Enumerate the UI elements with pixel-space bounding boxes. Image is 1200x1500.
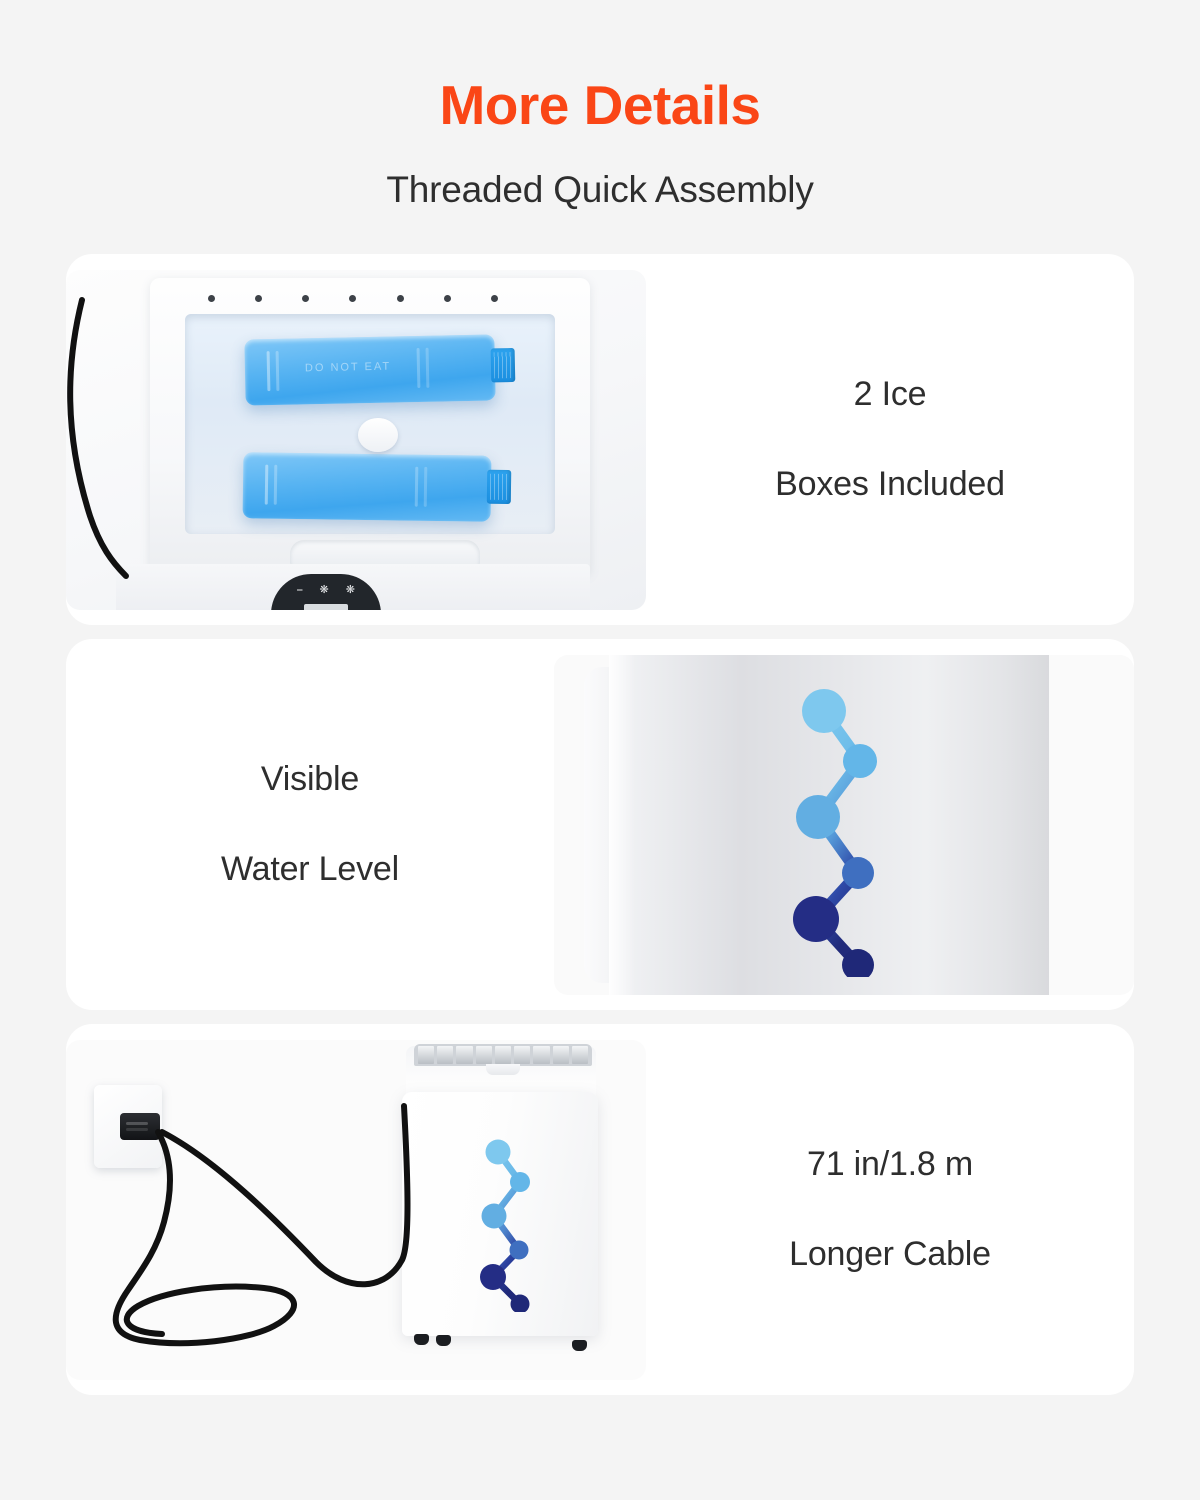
zigzag-chain-logo (782, 677, 922, 977)
page-subtitle: Threaded Quick Assembly (0, 169, 1200, 211)
ice-box: DO NOT EAT (244, 334, 495, 405)
vent-hole-icon (302, 295, 309, 302)
caption-line-2: Longer Cable (646, 1232, 1134, 1277)
basin-knob (358, 418, 398, 452)
ice-box (243, 452, 492, 521)
vent-hole-icon (255, 295, 262, 302)
ice-box-cap (487, 469, 511, 503)
caption-line-1: 2 Ice (646, 372, 1134, 417)
page-title: More Details (0, 78, 1200, 133)
feature-card-longer-cable: 71 in/1.8 m Longer Cable (66, 1024, 1134, 1395)
power-cable (66, 1040, 646, 1380)
ice-box-compartment-photo: DO NOT EAT ⎯ ❋ ❋ (66, 270, 646, 610)
vent-hole-icon (444, 295, 451, 302)
longer-cable-photo (66, 1040, 646, 1380)
vent-hole-icon (208, 295, 215, 302)
feature-caption: 71 in/1.8 m Longer Cable (646, 1097, 1134, 1321)
fan-icon: ❋ (320, 585, 329, 596)
feature-card-water-level: Visible Water Level (66, 639, 1134, 1010)
feature-caption: Visible Water Level (66, 712, 554, 936)
control-display (304, 604, 348, 610)
visible-water-level-photo (554, 655, 1134, 995)
feature-card-ice-boxes: DO NOT EAT ⎯ ❋ ❋ (66, 254, 1134, 625)
vent-hole-icon (397, 295, 404, 302)
caption-line-2: Water Level (66, 847, 554, 892)
feature-card-list: DO NOT EAT ⎯ ❋ ❋ (0, 254, 1200, 1395)
fan-speed-icon: ❋ (346, 585, 355, 596)
vent-hole-row (208, 292, 498, 306)
vent-hole-icon (491, 295, 498, 302)
ice-box-basin: DO NOT EAT (185, 314, 555, 534)
ice-box-emboss-text: DO NOT EAT (305, 360, 391, 374)
ice-box-cap (491, 347, 516, 381)
unit-top-housing: DO NOT EAT (150, 278, 590, 574)
vent-hole-icon (349, 295, 356, 302)
caption-line-2: Boxes Included (646, 462, 1134, 507)
caption-line-1: Visible (66, 757, 554, 802)
header: More Details Threaded Quick Assembly (0, 0, 1200, 211)
caption-line-1: 71 in/1.8 m (646, 1142, 1134, 1187)
feature-caption: 2 Ice Boxes Included (646, 327, 1134, 551)
power-cable (66, 294, 160, 584)
power-icon: ⎯ (297, 585, 303, 596)
